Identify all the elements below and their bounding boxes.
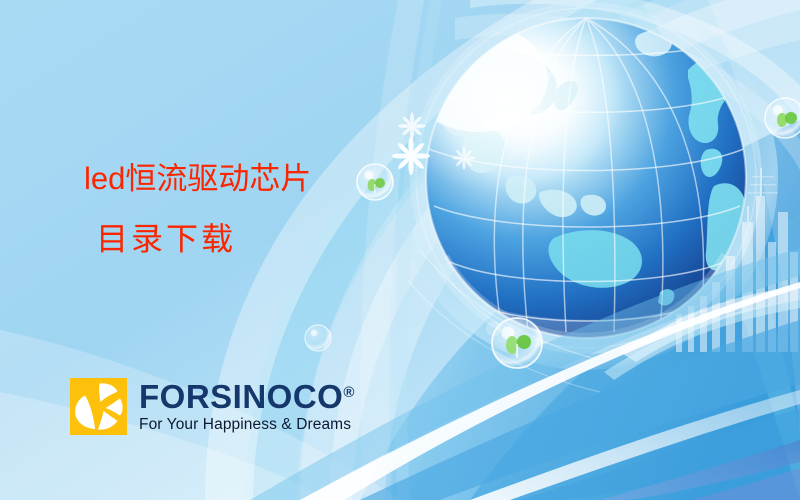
headline-line-1-latin: led xyxy=(84,161,125,196)
logo-wordmark: FORSINOCO® xyxy=(139,380,354,413)
headline-block: led恒流驱动芯片 目录下载 xyxy=(84,163,414,255)
company-logo: FORSINOCO® For Your Happiness & Dreams xyxy=(70,378,354,435)
headline-line-2: 目录下载 xyxy=(84,223,414,255)
poster-canvas: led恒流驱动芯片 目录下载 FORSINOCO® For Your Happi… xyxy=(0,0,800,500)
four-petal-flower-icon xyxy=(70,378,127,435)
logo-tagline: For Your Happiness & Dreams xyxy=(139,417,354,433)
logo-lockup-text: FORSINOCO® For Your Happiness & Dreams xyxy=(139,380,354,433)
headline-line-1-cjk: 恒流驱动芯片 xyxy=(125,161,311,197)
headline-line-1: led恒流驱动芯片 xyxy=(84,163,414,195)
registered-trademark-symbol: ® xyxy=(343,384,354,401)
logo-wordmark-text: FORSINOCO xyxy=(139,378,343,415)
